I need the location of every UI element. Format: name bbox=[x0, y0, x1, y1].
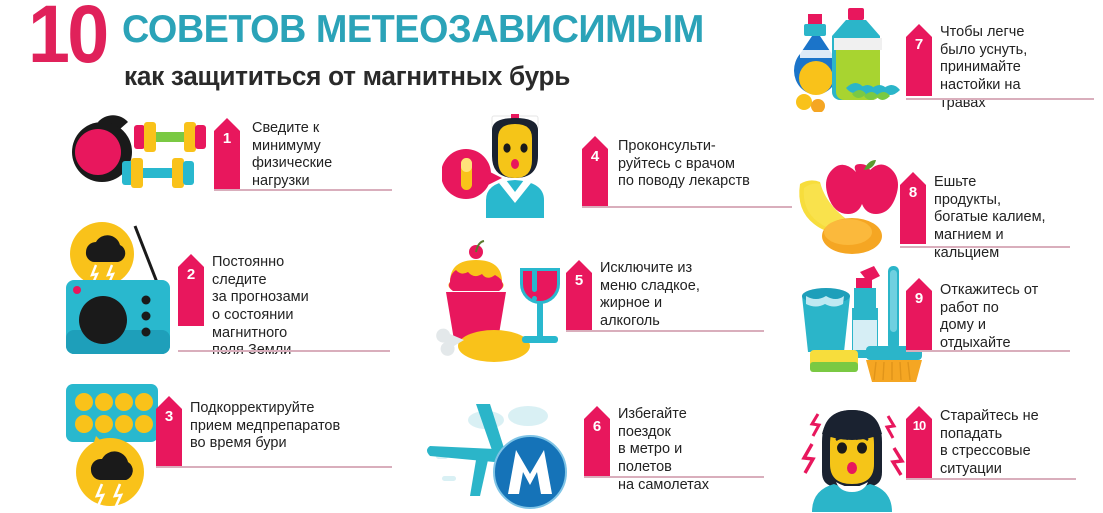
tip-marker-4: 4 bbox=[582, 136, 608, 208]
tip-text-4: Проконсульти- руйтесь с врачом по поводу… bbox=[618, 138, 778, 191]
tip-card-8: 8 Ешьте продукты, богатые калием, магние… bbox=[796, 158, 1103, 262]
tip-marker-1: 1 bbox=[214, 118, 240, 190]
tip-marker-9: 9 bbox=[906, 278, 932, 350]
tip-number-1: 1 bbox=[214, 131, 240, 146]
tip-text-5: Исключите из меню сладкое, жирное и алко… bbox=[600, 260, 750, 331]
tip-card-7: 7 Чтобы легче было уснуть, принимайте на… bbox=[786, 2, 1103, 112]
stressed-woman-icon bbox=[796, 392, 916, 512]
tip-rule-10 bbox=[906, 478, 1076, 480]
tip-rule-7 bbox=[906, 98, 1094, 100]
tip-rule-8 bbox=[900, 246, 1070, 248]
tip-card-3: 3 Подкорректируйте прием медпрепаратов в… bbox=[60, 378, 400, 510]
tip-number-6: 6 bbox=[584, 419, 610, 434]
tip-marker-8: 8 bbox=[900, 172, 926, 244]
tip-number-7: 7 bbox=[906, 37, 932, 52]
tip-card-9: 9 Откажитесь от работ по дому и отдыхайт… bbox=[796, 258, 1103, 388]
tip-card-6: 6 Избегайте поездок в метро и полетов на… bbox=[424, 398, 764, 510]
kettlebell-dumbbells-icon bbox=[62, 108, 222, 200]
tip-marker-6: 6 bbox=[584, 406, 610, 478]
tip-rule-3 bbox=[156, 466, 392, 468]
headline-title: СОВЕТОВ МЕТЕОЗАВИСИМЫМ bbox=[122, 8, 704, 52]
tip-card-10: 10 Старайтесь не попадать в стрессовые с… bbox=[796, 392, 1103, 512]
banana-apple-orange-icon bbox=[796, 158, 916, 262]
cupcake-wine-chicken-icon bbox=[424, 238, 574, 363]
tip-marker-5: 5 bbox=[566, 260, 592, 332]
tip-rule-4 bbox=[582, 206, 792, 208]
tip-rule-1 bbox=[214, 189, 392, 191]
tip-number-2: 2 bbox=[178, 267, 204, 282]
tip-marker-7: 7 bbox=[906, 24, 932, 96]
tip-number-3: 3 bbox=[156, 409, 182, 424]
headline-subtitle: как защититься от магнитных бурь bbox=[124, 61, 570, 92]
doctor-nurse-icon bbox=[442, 108, 582, 218]
tip-rule-2 bbox=[178, 350, 390, 352]
tip-marker-3: 3 bbox=[156, 396, 182, 468]
headline-number: 10 bbox=[28, 0, 106, 76]
airplane-metro-icon bbox=[424, 398, 584, 510]
tip-number-5: 5 bbox=[566, 273, 592, 288]
tip-number-8: 8 bbox=[900, 185, 926, 200]
radio-storm-forecast-icon bbox=[60, 218, 190, 363]
tip-text-6: Избегайте поездок в метро и полетов на с… bbox=[618, 406, 768, 494]
tip-rule-9 bbox=[906, 350, 1070, 352]
tip-number-10: 10 bbox=[906, 419, 932, 432]
tip-marker-10: 10 bbox=[906, 406, 932, 478]
tip-card-2: 2 Постоянно следите за прогнозами о сост… bbox=[60, 218, 400, 363]
poster-header: 10 СОВЕТОВ МЕТЕОЗАВИСИМЫМ как защититься… bbox=[28, 4, 768, 104]
tip-text-8: Ешьте продукты, богатые калием, магнием … bbox=[934, 174, 1100, 262]
tip-rule-6 bbox=[584, 476, 764, 478]
infographic-poster: 10 СОВЕТОВ МЕТЕОЗАВИСИМЫМ как защититься… bbox=[0, 0, 1103, 513]
tip-card-5: 5 Исключите из меню сладкое, жирное и ал… bbox=[424, 238, 764, 363]
tip-card-4: 4 Проконсульти- руйтесь с врачом по пово… bbox=[442, 108, 762, 218]
tip-rule-5 bbox=[566, 330, 764, 332]
herbal-tincture-bottles-icon bbox=[786, 2, 916, 112]
tip-text-3: Подкорректируйте прием медпрепаратов во … bbox=[190, 400, 400, 453]
tip-number-9: 9 bbox=[906, 291, 932, 306]
tip-text-1: Сведите к минимуму физические нагрузки bbox=[252, 120, 392, 191]
tip-text-2: Постоянно следите за прогнозами о состоя… bbox=[212, 254, 372, 360]
tip-marker-2: 2 bbox=[178, 254, 204, 326]
tip-text-10: Старайтесь не попадать в стрессовые ситу… bbox=[940, 408, 1103, 479]
tip-text-9: Откажитесь от работ по дому и отдыхайте bbox=[940, 282, 1100, 353]
tip-number-4: 4 bbox=[582, 149, 608, 164]
tip-card-1: 1 Сведите к минимуму физические нагрузки bbox=[62, 108, 392, 203]
